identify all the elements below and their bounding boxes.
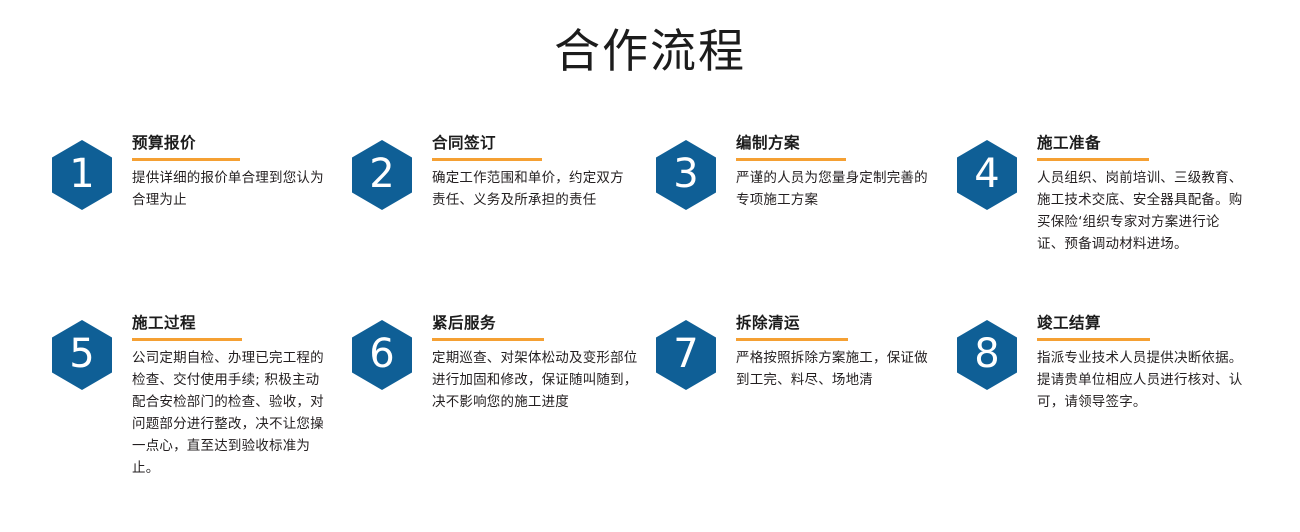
step-description: 定期巡查、对架体松动及变形部位进行加固和修改，保证随叫随到，决不影响您的施工进度 <box>432 348 644 414</box>
hexagon-badge-6: 6 <box>352 320 412 390</box>
step-item-2[interactable]: 2 合同签订 确定工作范围和单价，约定双方责任、义务及所承担的责任 <box>352 126 637 212</box>
step-text-2: 合同签订 确定工作范围和单价，约定双方责任、义务及所承担的责任 <box>412 126 637 212</box>
hexagon-badge-5: 5 <box>52 320 112 390</box>
title-underline <box>432 338 544 341</box>
step-title: 竣工结算 <box>1037 314 1252 333</box>
step-number: 3 <box>673 154 698 194</box>
step-item-5[interactable]: 5 施工过程 公司定期自检、办理已完工程的检查、交付使用手续; 积极主动配合安检… <box>52 306 332 480</box>
hexagon-icon: 4 <box>957 140 1017 210</box>
step-title: 紧后服务 <box>432 314 644 333</box>
step-description: 严格按照拆除方案施工，保证做到工完、料尽、场地清 <box>736 348 941 392</box>
step-item-7[interactable]: 7 拆除清运 严格按照拆除方案施工，保证做到工完、料尽、场地清 <box>656 306 941 392</box>
step-item-1[interactable]: 1 预算报价 提供详细的报价单合理到您认为合理为止 <box>52 126 332 212</box>
step-number: 1 <box>69 154 94 194</box>
step-item-6[interactable]: 6 紧后服务 定期巡查、对架体松动及变形部位进行加固和修改，保证随叫随到，决不影… <box>352 306 644 414</box>
step-description: 确定工作范围和单价，约定双方责任、义务及所承担的责任 <box>432 168 637 212</box>
title-underline <box>432 158 542 161</box>
hexagon-badge-8: 8 <box>957 320 1017 390</box>
page-title: 合作流程 <box>0 24 1300 79</box>
title-underline <box>132 158 240 161</box>
step-number: 7 <box>673 334 698 374</box>
hexagon-badge-1: 1 <box>52 140 112 210</box>
step-description: 提供详细的报价单合理到您认为合理为止 <box>132 168 332 212</box>
hexagon-icon: 6 <box>352 320 412 390</box>
title-underline <box>132 338 242 341</box>
title-underline <box>736 158 846 161</box>
step-title: 施工准备 <box>1037 134 1244 153</box>
step-text-5: 施工过程 公司定期自检、办理已完工程的检查、交付使用手续; 积极主动配合安检部门… <box>112 306 332 480</box>
title-underline <box>1037 338 1150 341</box>
hexagon-badge-2: 2 <box>352 140 412 210</box>
step-number: 6 <box>369 334 394 374</box>
step-description: 严谨的人员为您量身定制完善的专项施工方案 <box>736 168 936 212</box>
step-title: 施工过程 <box>132 314 332 333</box>
steps-row-2: 5 施工过程 公司定期自检、办理已完工程的检查、交付使用手续; 积极主动配合安检… <box>0 306 1300 506</box>
step-title: 拆除清运 <box>736 314 941 333</box>
step-number: 4 <box>974 154 999 194</box>
hexagon-icon: 1 <box>52 140 112 210</box>
process-steps: 1 预算报价 提供详细的报价单合理到您认为合理为止 2 合同签订 确定工作范围和… <box>0 126 1300 506</box>
step-text-7: 拆除清运 严格按照拆除方案施工，保证做到工完、料尽、场地清 <box>716 306 941 392</box>
step-text-3: 编制方案 严谨的人员为您量身定制完善的专项施工方案 <box>716 126 936 212</box>
step-item-4[interactable]: 4 施工准备 人员组织、岗前培训、三级教育、施工技术交底、安全器具配备。购买保险… <box>957 126 1244 256</box>
step-text-8: 竣工结算 指派专业技术人员提供决断依据。提请贵单位相应人员进行核对、认可，请领导… <box>1017 306 1252 414</box>
step-item-8[interactable]: 8 竣工结算 指派专业技术人员提供决断依据。提请贵单位相应人员进行核对、认可，请… <box>957 306 1252 414</box>
step-number: 5 <box>69 334 94 374</box>
step-description: 指派专业技术人员提供决断依据。提请贵单位相应人员进行核对、认可，请领导签字。 <box>1037 348 1252 414</box>
hexagon-icon: 7 <box>656 320 716 390</box>
title-underline <box>1037 158 1149 161</box>
step-number: 2 <box>369 154 394 194</box>
step-title: 合同签订 <box>432 134 637 153</box>
hexagon-badge-3: 3 <box>656 140 716 210</box>
title-underline <box>736 338 848 341</box>
hexagon-icon: 5 <box>52 320 112 390</box>
step-item-3[interactable]: 3 编制方案 严谨的人员为您量身定制完善的专项施工方案 <box>656 126 936 212</box>
step-number: 8 <box>974 334 999 374</box>
steps-row-1: 1 预算报价 提供详细的报价单合理到您认为合理为止 2 合同签订 确定工作范围和… <box>0 126 1300 306</box>
step-text-6: 紧后服务 定期巡查、对架体松动及变形部位进行加固和修改，保证随叫随到，决不影响您… <box>412 306 644 414</box>
hexagon-badge-4: 4 <box>957 140 1017 210</box>
step-description: 公司定期自检、办理已完工程的检查、交付使用手续; 积极主动配合安检部门的检查、验… <box>132 348 332 479</box>
step-title: 预算报价 <box>132 134 332 153</box>
step-description: 人员组织、岗前培训、三级教育、施工技术交底、安全器具配备。购买保险‘组织专家对方… <box>1037 168 1244 255</box>
hexagon-badge-7: 7 <box>656 320 716 390</box>
step-title: 编制方案 <box>736 134 936 153</box>
hexagon-icon: 8 <box>957 320 1017 390</box>
hexagon-icon: 2 <box>352 140 412 210</box>
step-text-1: 预算报价 提供详细的报价单合理到您认为合理为止 <box>112 126 332 212</box>
step-text-4: 施工准备 人员组织、岗前培训、三级教育、施工技术交底、安全器具配备。购买保险‘组… <box>1017 126 1244 256</box>
hexagon-icon: 3 <box>656 140 716 210</box>
